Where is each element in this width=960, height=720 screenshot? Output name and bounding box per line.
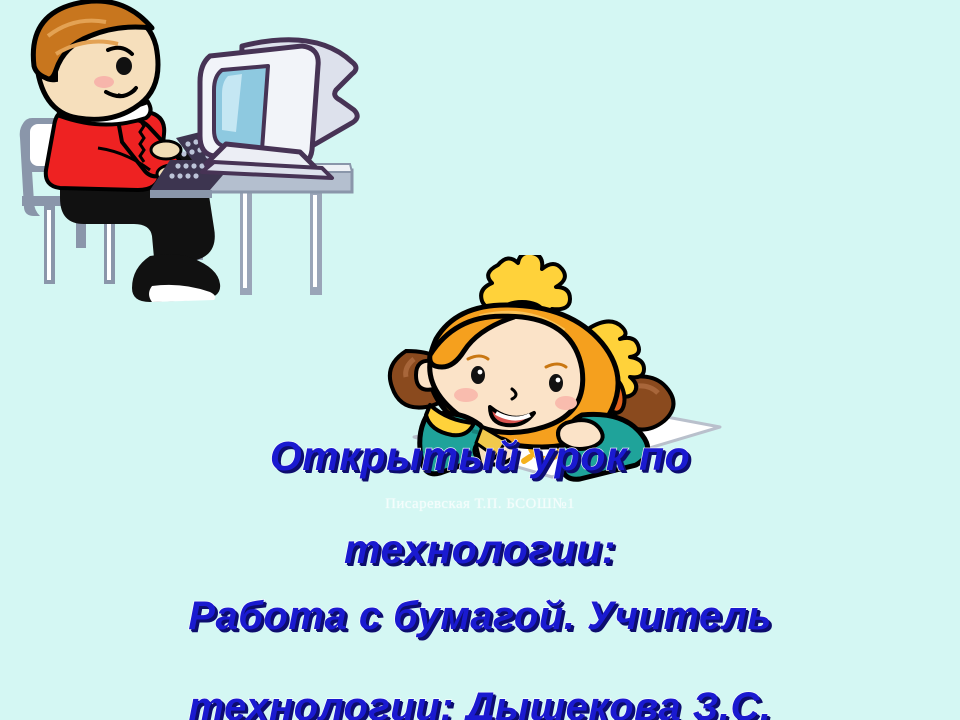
slide-subtitle: Работа с бумагой. Учитель технологии: Ды…	[0, 548, 960, 720]
crt-monitor	[200, 40, 357, 178]
slide-subtitle-line-1: Работа с бумагой. Учитель	[0, 594, 960, 640]
boy-head	[33, 1, 158, 119]
slide-subtitle-line-2: технологии: Дышекова З.С.	[0, 685, 960, 720]
presentation-slide: Писаревская Т.П. БСОШ№1 Открытый урок по…	[0, 0, 960, 720]
slide-title-line-1: Открытый урок по	[0, 433, 960, 480]
boy-at-computer-illustration	[0, 0, 380, 310]
